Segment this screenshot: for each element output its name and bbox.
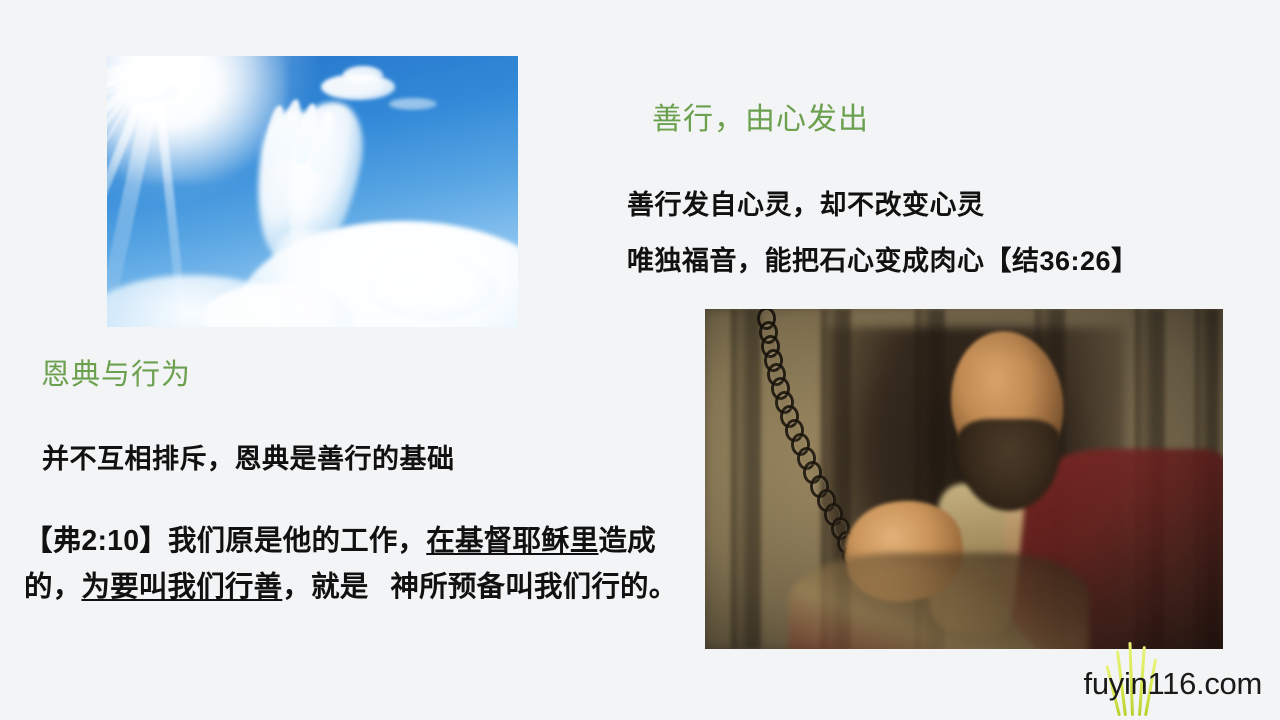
slide-canvas: 恩典与行为 并不互相排斥，恩典是善行的基础 【弗2:10】我们原是他的工作，在基…: [0, 0, 1280, 720]
cloud: [115, 80, 177, 102]
image-vignette: [705, 309, 1223, 649]
chained-prisoner-image: [705, 309, 1223, 649]
right-section-heading: 善行，由心发出: [652, 103, 869, 136]
scripture-line2-plain-after: ，就是: [282, 571, 368, 603]
site-watermark: fuyin116.com: [1034, 638, 1264, 716]
watermark-text: fuyin116.com: [1084, 666, 1262, 702]
scripture-line1-plain: 我们原是他的工作，: [168, 525, 426, 557]
scripture-reference: 【弗2:10】: [24, 525, 168, 557]
scripture-line3: 我们行的。: [534, 571, 678, 603]
left-subheading: 并不互相排斥，恩典是善行的基础: [42, 444, 455, 475]
left-section-heading: 恩典与行为: [41, 360, 191, 392]
praying-hands-sky-image: [107, 56, 518, 327]
cloud: [343, 66, 383, 84]
cloud: [389, 98, 437, 110]
scripture-underline-in-christ: 在基督耶稣里: [426, 525, 598, 557]
right-body-line-2: 唯独福音，能把石心变成肉心【结36:26】: [627, 246, 1139, 277]
right-body-line-1: 善行发自心灵，却不改变心灵: [627, 190, 985, 221]
cloud: [369, 259, 499, 321]
scripture-quote: 【弗2:10】我们原是他的工作，在基督耶稣里造成的，为要叫我们行善，就是神所预备…: [24, 518, 694, 610]
scripture-line2-tail: 神所预备叫: [390, 571, 534, 603]
scripture-underline-good-works: 为要叫我们行善: [81, 571, 282, 603]
